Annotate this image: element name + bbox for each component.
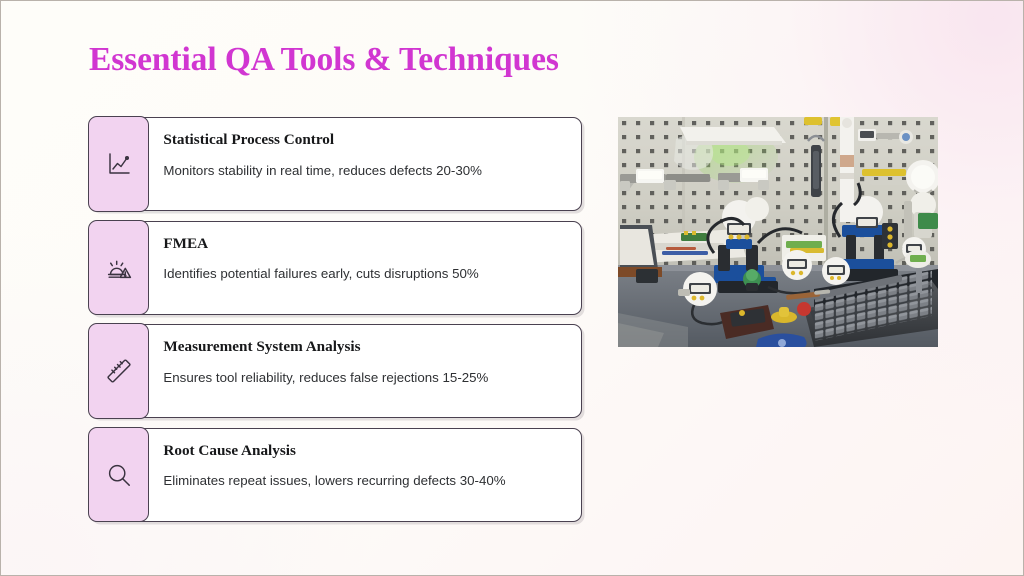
card-title: Statistical Process Control: [163, 132, 581, 149]
list-item[interactable]: Root Cause Analysis Eliminates repeat is…: [89, 428, 582, 522]
card-body: Statistical Process Control Monitors sta…: [149, 118, 581, 210]
metrology-lab-workbench-photo: [618, 117, 938, 347]
card-description: Monitors stability in real time, reduces…: [163, 163, 581, 179]
slide-canvas: Essential QA Tools & Techniques Statisti…: [0, 0, 1024, 576]
list-item[interactable]: Statistical Process Control Monitors sta…: [89, 117, 582, 211]
qa-tools-card-list: Statistical Process Control Monitors sta…: [89, 117, 582, 531]
ruler-icon: [88, 323, 149, 418]
card-title: FMEA: [163, 236, 581, 253]
card-description: Eliminates repeat issues, lowers recurri…: [163, 473, 581, 489]
line-chart-icon: [88, 116, 149, 211]
card-title: Root Cause Analysis: [163, 443, 581, 460]
magnifier-icon: [88, 427, 149, 522]
card-body: Measurement System Analysis Ensures tool…: [149, 325, 581, 417]
card-body: Root Cause Analysis Eliminates repeat is…: [149, 429, 581, 521]
list-item[interactable]: FMEA Identifies potential failures early…: [89, 221, 582, 315]
card-title: Measurement System Analysis: [163, 339, 581, 356]
list-item[interactable]: Measurement System Analysis Ensures tool…: [89, 324, 582, 418]
page-title: Essential QA Tools & Techniques: [89, 41, 559, 79]
alarm-warning-icon: [88, 220, 149, 315]
card-description: Ensures tool reliability, reduces false …: [163, 370, 581, 386]
card-body: FMEA Identifies potential failures early…: [149, 222, 581, 314]
card-description: Identifies potential failures early, cut…: [163, 266, 581, 282]
